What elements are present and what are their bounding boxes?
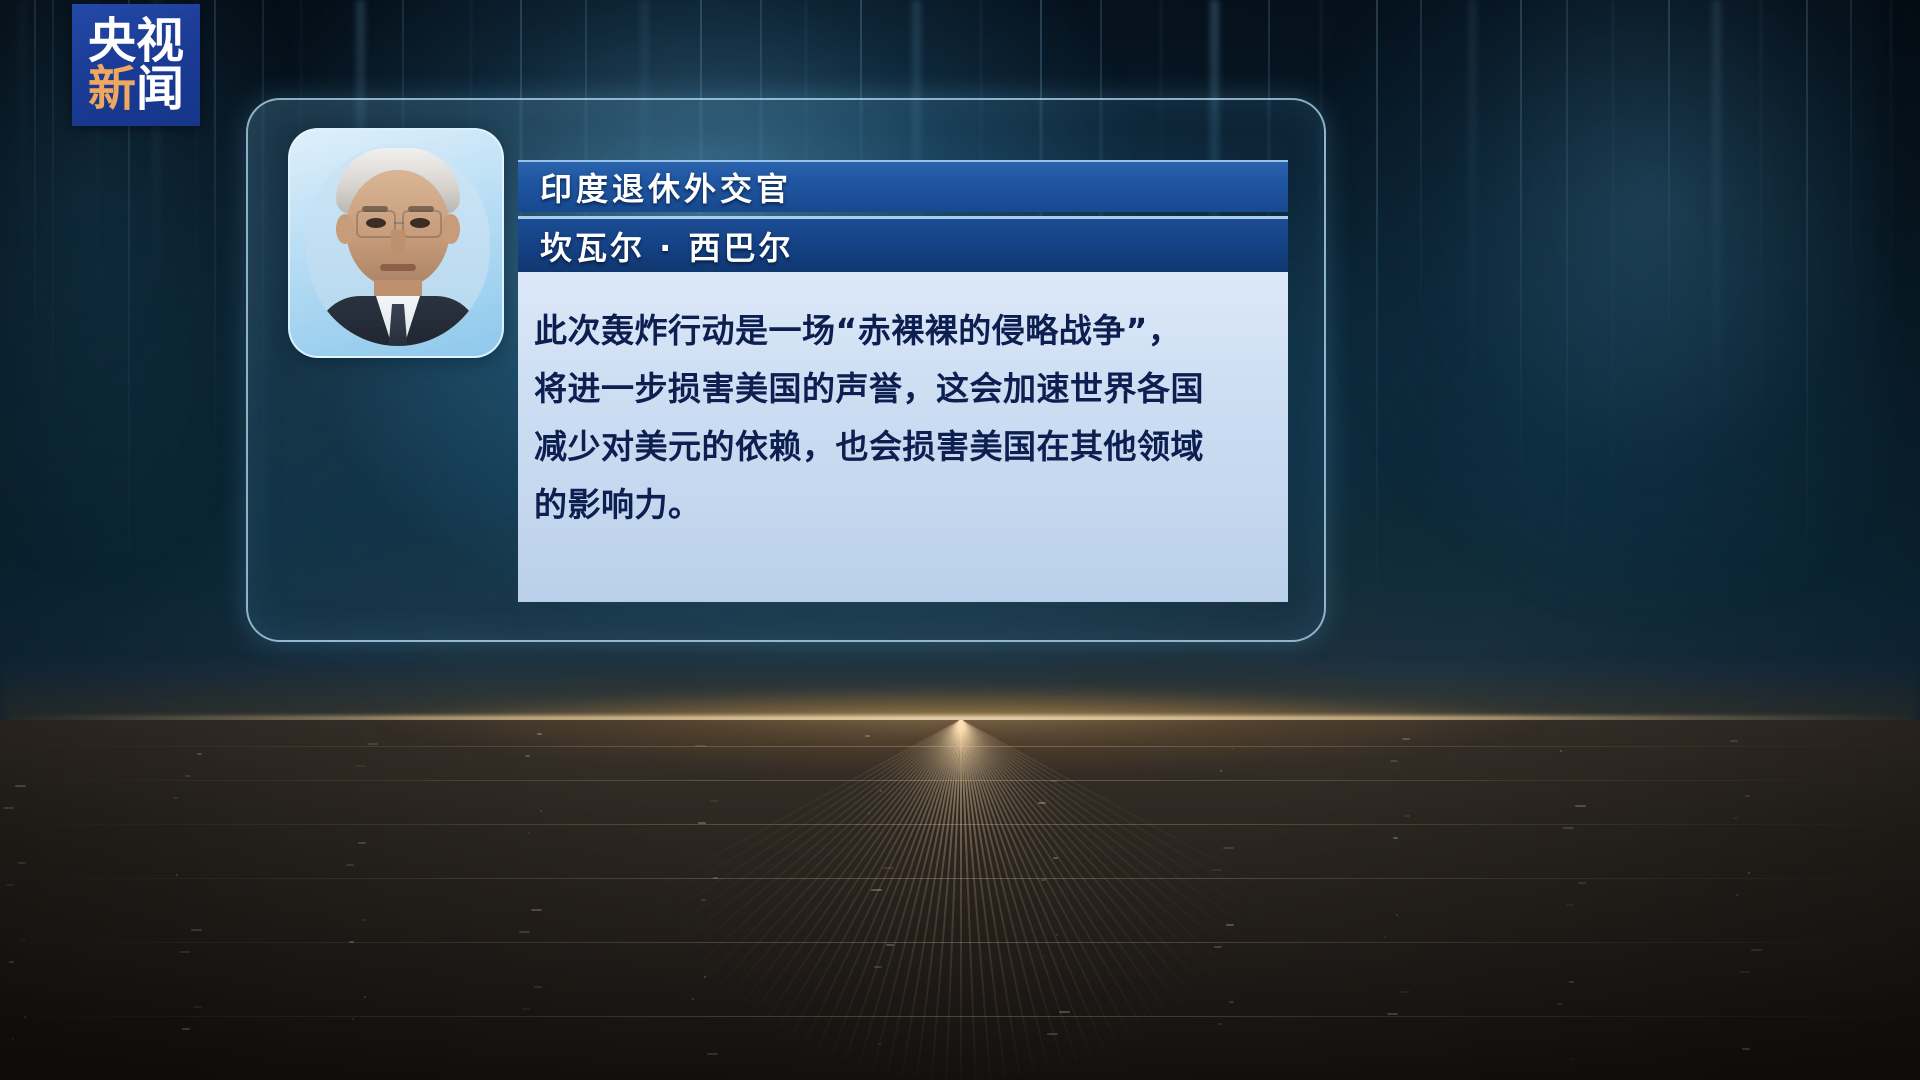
floor-speck	[1751, 949, 1762, 951]
avatar-nose	[391, 230, 405, 256]
floor-speck	[1575, 805, 1586, 807]
floor-speck	[880, 790, 882, 792]
floor-grid-row	[0, 1016, 1920, 1017]
floor-speck	[176, 874, 178, 876]
light-streak	[1566, 0, 1568, 662]
light-streak	[1376, 0, 1378, 728]
floor-speck	[3, 807, 14, 809]
light-streak	[1760, 0, 1762, 596]
floor-speck	[1733, 817, 1738, 819]
floor-speck	[1047, 1033, 1058, 1035]
floor-speck	[1742, 1048, 1750, 1050]
speaker-name-bar: 坎瓦尔 · 西巴尔	[518, 216, 1288, 272]
floor-speck	[179, 951, 190, 953]
floor-speck	[1560, 750, 1562, 752]
floor-speck	[1217, 1023, 1222, 1025]
avatar-ear-right	[442, 214, 460, 244]
floor-speck	[1393, 837, 1398, 839]
floor-speck	[1229, 1001, 1234, 1003]
floor-grid-row	[0, 746, 1920, 747]
floor-speck	[1387, 1013, 1398, 1015]
floor-speck	[692, 998, 694, 1000]
floor-speck	[21, 939, 26, 941]
floor-speck	[182, 1028, 190, 1030]
floor-speck	[519, 931, 530, 933]
floor-speck	[1059, 1011, 1070, 1013]
floor-speck	[701, 899, 706, 901]
avatar-eye-left	[366, 218, 386, 228]
floor-speck	[12, 1038, 14, 1040]
floor-speck	[1402, 738, 1410, 740]
light-streak	[1890, 0, 1892, 439]
avatar	[288, 128, 504, 358]
floor-speck	[883, 867, 894, 869]
floor-speck	[191, 929, 202, 931]
floor-grid-line	[960, 720, 962, 1080]
floor-speck	[173, 797, 178, 799]
floor-speck	[1557, 1003, 1562, 1005]
floor-speck	[710, 800, 718, 802]
studio-floor	[0, 720, 1920, 1080]
light-streak	[34, 0, 36, 421]
floor-speck	[352, 1018, 354, 1020]
floor-speck	[1384, 936, 1386, 938]
floor-speck	[1050, 780, 1058, 782]
floor-speck	[531, 909, 542, 911]
floor-speck	[1038, 802, 1046, 804]
floor-speck	[1220, 770, 1222, 772]
light-streak	[1668, 0, 1670, 414]
floor-speck	[1056, 934, 1058, 936]
floor-speck	[525, 755, 530, 757]
floor-speck	[695, 745, 706, 747]
floor-speck	[15, 785, 26, 787]
light-streak	[1468, 0, 1477, 480]
avatar-glasses-bridge	[394, 222, 404, 224]
light-streak	[1612, 0, 1614, 753]
floor-speck	[1396, 914, 1398, 916]
floor-speck	[1226, 924, 1234, 926]
floor-speck	[1569, 981, 1574, 983]
floor-speck	[1572, 1058, 1574, 1060]
floor-grid-row	[0, 878, 1920, 879]
floor-speck	[522, 1008, 530, 1010]
logo-char-wen: 闻	[136, 65, 184, 113]
floor-speck	[361, 919, 366, 921]
lower-third-card: 印度退休外交官 坎瓦尔 · 西巴尔 此次轰炸行动是一场“赤裸裸的侵略战争”， 将…	[246, 98, 1326, 642]
light-streak	[1806, 0, 1808, 687]
speaker-name: 坎瓦尔 · 西巴尔	[540, 223, 793, 269]
floor-speck	[865, 735, 870, 737]
floor-speck	[540, 810, 542, 812]
floor-speck	[1745, 795, 1750, 797]
floor-speck	[1399, 991, 1410, 993]
floor-speck	[194, 1006, 202, 1008]
avatar-ear-left	[336, 214, 354, 244]
floor-speck	[1232, 748, 1234, 750]
floor-speck	[358, 842, 366, 844]
light-streak	[1850, 0, 1852, 348]
floor-speck	[1044, 956, 1046, 958]
floor-speck	[355, 765, 366, 767]
broadcast-stage: 央视 新 闻	[0, 0, 1920, 1080]
floor-speck	[868, 812, 870, 814]
floor-speck	[698, 822, 706, 824]
logo-char-xin: 新	[88, 65, 136, 113]
floor-speck	[1211, 869, 1222, 871]
floor-speck	[1053, 857, 1058, 859]
floor-speck	[1041, 879, 1046, 881]
floor-speck	[877, 1043, 882, 1045]
floor-speck	[1214, 946, 1222, 948]
floor-speck	[1578, 882, 1586, 884]
logo-line-2: 新 闻	[88, 65, 184, 113]
light-streak	[18, 0, 27, 330]
quote-panel: 此次轰炸行动是一场“赤裸裸的侵略战争”， 将进一步损害美国的声誉，这会加速世界各…	[518, 272, 1288, 602]
floor-speck	[886, 944, 894, 946]
light-streak	[1712, 0, 1721, 505]
light-streak	[1420, 0, 1422, 389]
floor-speck	[871, 889, 882, 891]
logo-line-1: 央视	[88, 17, 184, 65]
floor-speck	[1563, 827, 1574, 829]
floor-speck	[537, 733, 542, 735]
floor-speck	[185, 775, 190, 777]
floor-speck	[18, 862, 26, 864]
avatar-photo	[306, 144, 490, 346]
floor-speck	[534, 986, 542, 988]
floor-grid-row	[0, 942, 1920, 943]
floor-speck	[1739, 971, 1750, 973]
lower-third-inner: 印度退休外交官 坎瓦尔 · 西巴尔 此次轰炸行动是一场“赤裸裸的侵略战争”， 将…	[248, 100, 1324, 640]
floor-speck	[1736, 894, 1738, 896]
floor-speck	[364, 996, 366, 998]
floor-speck	[1730, 740, 1738, 742]
quote-text: 此次轰炸行动是一场“赤裸裸的侵略战争”， 将进一步损害美国的声誉，这会加速世界各…	[534, 302, 1272, 534]
floor-speck	[197, 753, 202, 755]
floor-grid-row	[0, 780, 1920, 781]
floor-speck	[349, 941, 354, 943]
floor-speck	[0, 730, 2, 732]
floor-speck	[704, 976, 706, 978]
floor-speck	[528, 832, 530, 834]
floor-grid-row	[0, 824, 1920, 825]
floor-speck	[1405, 815, 1410, 817]
avatar-mouth	[380, 264, 416, 271]
speaker-title: 印度退休外交官	[540, 164, 792, 210]
floor-speck	[346, 864, 354, 866]
floor-speck	[707, 1053, 718, 1055]
floor-speck	[874, 966, 882, 968]
floor-speck	[24, 1016, 26, 1018]
floor-speck	[188, 852, 190, 854]
light-streak	[52, 0, 54, 512]
floor-speck	[1390, 760, 1398, 762]
floor-speck	[713, 877, 718, 879]
floor-speck	[1748, 872, 1750, 874]
floor-speck	[9, 961, 14, 963]
light-streak	[214, 0, 216, 537]
light-streak	[1520, 0, 1522, 571]
speaker-title-bar: 印度退休外交官	[518, 160, 1288, 212]
logo-char-yangshi: 央视	[88, 17, 184, 65]
floor-speck	[1566, 904, 1574, 906]
avatar-eye-right	[410, 218, 430, 228]
floor-speck	[367, 743, 378, 745]
floor-speck	[1223, 847, 1234, 849]
cctv-news-logo: 央视 新 闻	[72, 4, 200, 126]
floor-speck	[6, 884, 14, 886]
